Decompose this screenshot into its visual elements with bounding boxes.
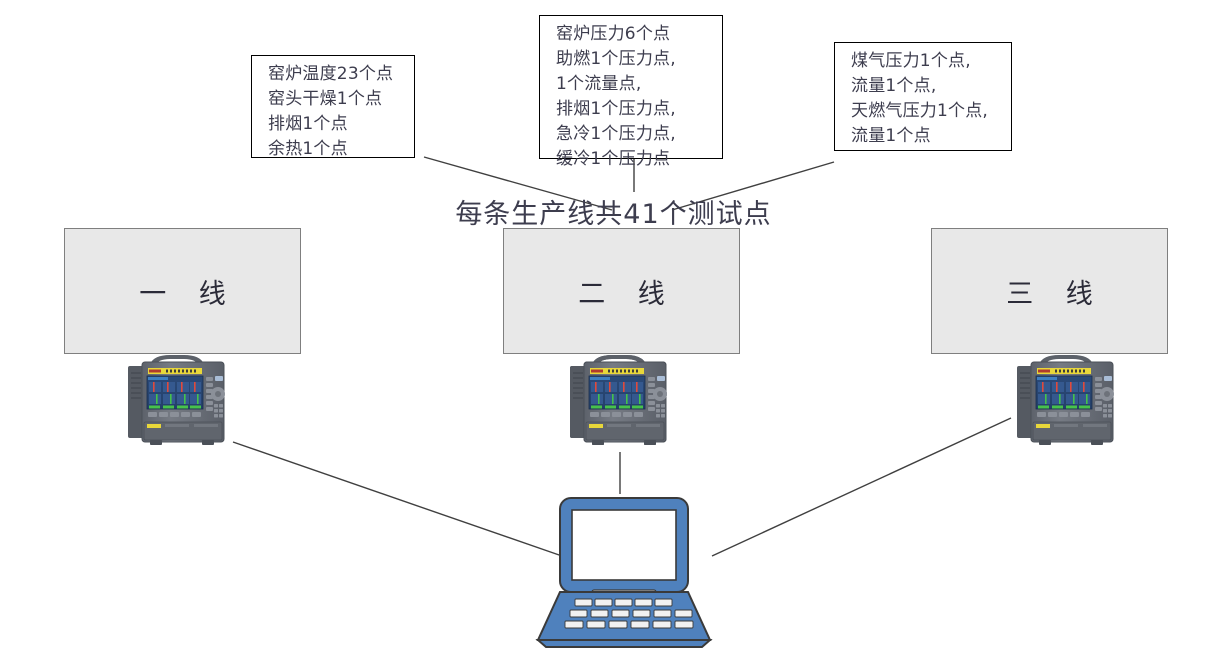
production-line-label-3: 三 线 (994, 272, 1105, 311)
paperless-recorder-icon-line1 (120, 352, 232, 452)
note-box-kiln-pressure: 窑炉压力6个点 助燃1个压力点, 1个流量点, 排烟1个压力点, 急冷1个压力点… (539, 15, 723, 159)
production-line-panel-2: 二 线 (503, 228, 740, 354)
note-box-kiln-temperature: 窑炉温度23个点 窑头干燥1个点 排烟1个点 余热1个点 (251, 55, 415, 158)
production-line-label-2: 二 线 (566, 272, 677, 311)
link-recorder3-laptop (712, 418, 1011, 556)
paperless-recorder-icon-line2 (562, 352, 674, 452)
diagram-title: 每条生产线共41个测试点 (0, 192, 1227, 231)
link-recorder1-laptop (233, 442, 562, 556)
diagram-canvas: 窑炉温度23个点 窑头干燥1个点 排烟1个点 余热1个点 窑炉压力6个点 助燃1… (0, 0, 1227, 664)
production-line-panel-3: 三 线 (931, 228, 1168, 354)
production-line-panel-1: 一 线 (64, 228, 301, 354)
production-line-label-1: 一 线 (127, 272, 238, 311)
laptop-computer-icon (524, 494, 724, 654)
note-box-gas-pressure: 煤气压力1个点, 流量1个点, 天燃气压力1个点, 流量1个点 (834, 42, 1012, 151)
paperless-recorder-icon-line3 (1009, 352, 1121, 452)
